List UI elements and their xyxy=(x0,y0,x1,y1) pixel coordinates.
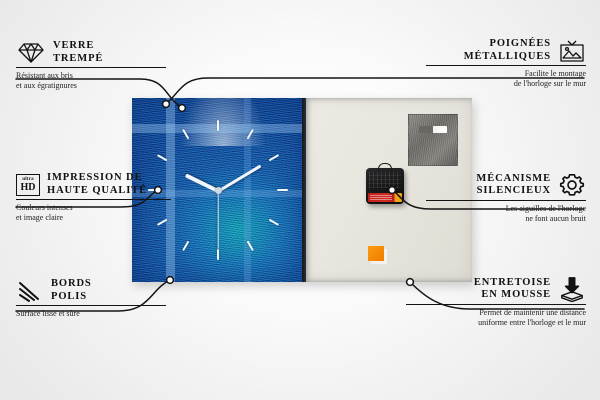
feature-subtitle: Facilite le montage de l'horloge sur le … xyxy=(426,69,586,89)
infographic-canvas: VERRE TREMPÉ Résistant aux bris et aux é… xyxy=(0,0,600,400)
hour-tick xyxy=(277,189,288,191)
feature-entretoise-en-mousse: ENTRETOISE EN MOUSSE Permet de maintenir… xyxy=(406,276,586,328)
arrow-down-pad-icon xyxy=(558,276,586,302)
feature-subtitle: Permet de maintenir une distance uniform… xyxy=(406,308,586,328)
feature-header: VERRE TREMPÉ xyxy=(16,40,166,65)
wall-frame-icon xyxy=(558,39,586,63)
feature-poignees-metalliques: POIGNÉES MÉTALLIQUES Facilite le montage… xyxy=(426,38,586,89)
diamond-icon xyxy=(16,41,46,65)
feature-header: BORDS POLIS xyxy=(16,278,166,303)
feature-impression-haute-qualite: ultra HD IMPRESSION DE HAUTE QUALITÉ Cou… xyxy=(16,172,171,223)
feature-title: POIGNÉES MÉTALLIQUES xyxy=(464,38,551,63)
hanger-slot xyxy=(419,126,447,133)
hour-tick xyxy=(217,249,219,260)
foam-spacer xyxy=(368,246,384,261)
hour-tick xyxy=(217,120,219,131)
gear-icon xyxy=(558,172,586,198)
panel-edge xyxy=(302,98,306,282)
product-photo xyxy=(132,98,472,282)
metal-hanger-plate xyxy=(408,114,458,166)
battery-label xyxy=(368,193,402,202)
feature-subtitle: Les aiguilles de l'horloge ne font aucun… xyxy=(426,204,586,224)
hour-tick xyxy=(269,219,280,226)
feature-header: POIGNÉES MÉTALLIQUES xyxy=(426,38,586,63)
battery-stripes xyxy=(370,195,392,200)
feature-title: ENTRETOISE EN MOUSSE xyxy=(474,277,551,302)
ultra-hd-top-text: ultra xyxy=(22,177,34,182)
feature-subtitle: Surface lisse et sûre xyxy=(16,309,166,319)
feature-divider xyxy=(16,199,171,200)
polished-edge-icon xyxy=(16,279,44,303)
feature-mecanisme-silencieux: MÉCANISME SILENCIEUX Les aiguilles de l'… xyxy=(426,172,586,224)
feature-header: ultra HD IMPRESSION DE HAUTE QUALITÉ xyxy=(16,172,171,197)
feature-title: MÉCANISME SILENCIEUX xyxy=(476,173,551,198)
hour-tick xyxy=(182,241,189,252)
feature-divider xyxy=(16,305,166,306)
feature-header: ENTRETOISE EN MOUSSE xyxy=(406,276,586,302)
feature-divider xyxy=(16,67,166,68)
ultra-hd-icon: ultra HD xyxy=(16,174,40,196)
feature-divider xyxy=(426,200,586,201)
hour-tick xyxy=(269,154,280,161)
ultra-hd-bottom-text: HD xyxy=(21,183,36,193)
clock-minute-hand xyxy=(217,164,262,193)
feature-divider xyxy=(426,65,586,66)
feature-title: IMPRESSION DE HAUTE QUALITÉ xyxy=(47,172,147,197)
feature-subtitle: Résistant aux bris et aux égratignures xyxy=(16,71,166,91)
feature-header: MÉCANISME SILENCIEUX xyxy=(426,172,586,198)
feature-divider xyxy=(406,304,586,305)
clock-mechanism xyxy=(366,168,404,204)
feature-bords-polis: BORDS POLIS Surface lisse et sûre xyxy=(16,278,166,319)
glass-highlight xyxy=(180,98,266,146)
feature-title: VERRE TREMPÉ xyxy=(53,40,103,65)
feature-title: BORDS POLIS xyxy=(51,278,92,303)
feature-subtitle: Couleurs intenses et image claire xyxy=(16,203,171,223)
feature-verre-trempe: VERRE TREMPÉ Résistant aux bris et aux é… xyxy=(16,40,166,91)
pattern-band xyxy=(244,98,251,282)
mechanism-texture xyxy=(369,172,401,188)
clock-second-hand xyxy=(217,191,218,249)
mechanism-hook xyxy=(378,163,392,171)
clock-center-cap xyxy=(215,187,222,194)
